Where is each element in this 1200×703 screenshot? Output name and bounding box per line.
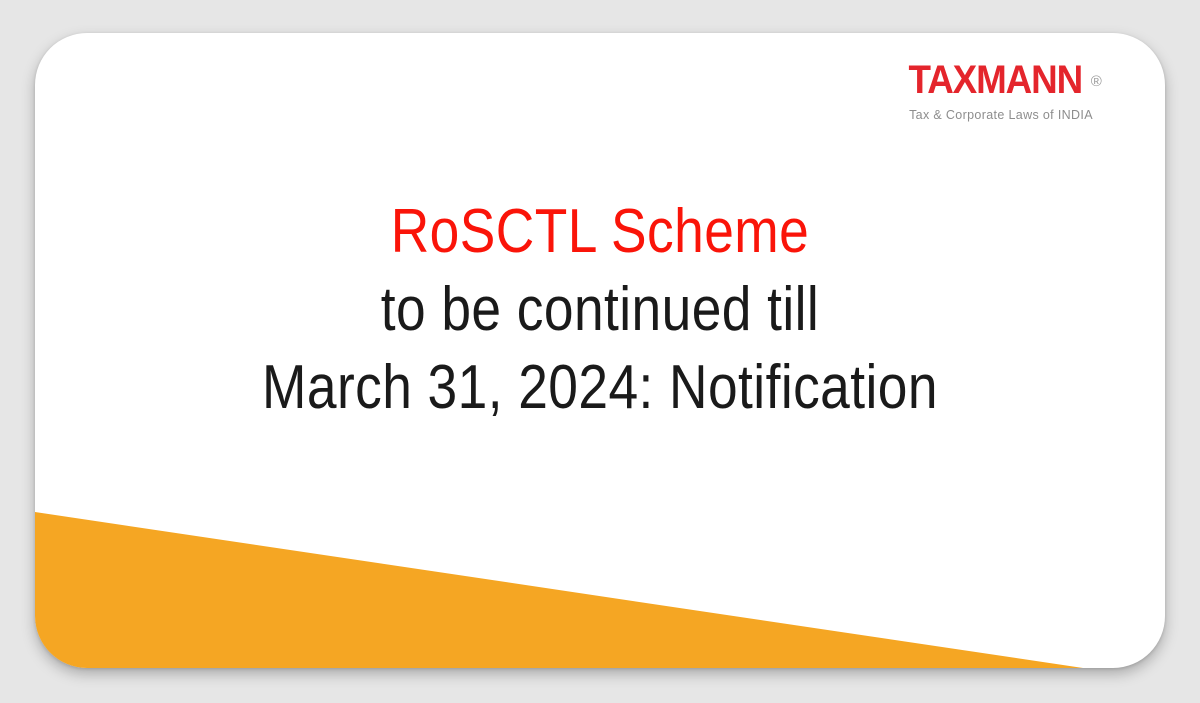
registered-trademark-icon: ® bbox=[1091, 60, 1102, 104]
headline-line-1: RoSCTL Scheme bbox=[114, 201, 1086, 263]
logo-wordmark-text: TAXMANN bbox=[909, 58, 1083, 102]
announcement-card: TAXMANN® Tax & Corporate Laws of INDIA R… bbox=[35, 33, 1165, 668]
headline-block: RoSCTL Scheme to be continued till March… bbox=[35, 201, 1165, 419]
logo-tagline: Tax & Corporate Laws of INDIA bbox=[891, 108, 1111, 122]
logo-wordmark-row: TAXMANN® bbox=[891, 58, 1111, 102]
headline-line-2: to be continued till bbox=[114, 279, 1086, 341]
stage: TAXMANN® Tax & Corporate Laws of INDIA R… bbox=[0, 0, 1200, 703]
headline-line-3: March 31, 2024: Notification bbox=[114, 357, 1086, 419]
taxmann-logo: TAXMANN® Tax & Corporate Laws of INDIA bbox=[891, 58, 1111, 122]
